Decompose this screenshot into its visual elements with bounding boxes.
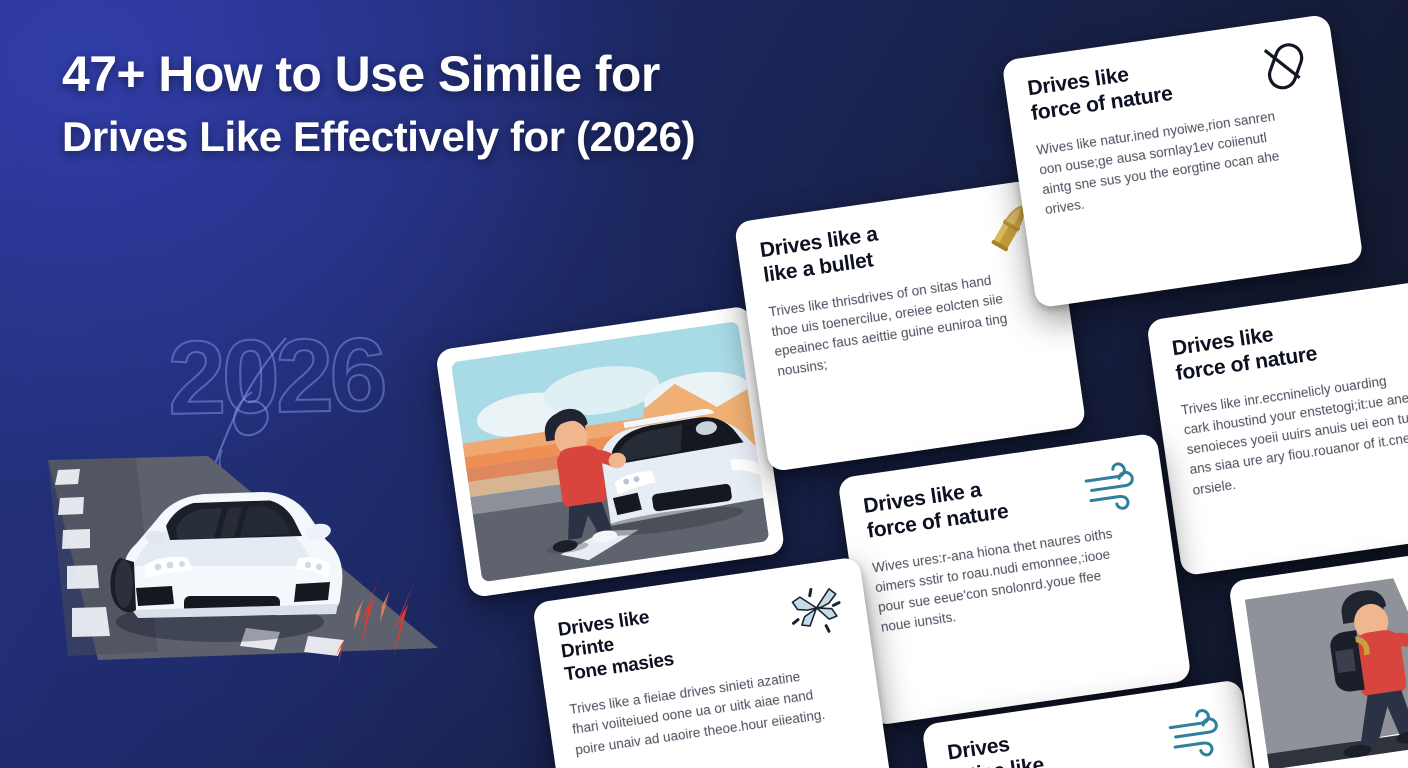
paperclip-icon xyxy=(1249,28,1324,103)
wind-icon xyxy=(1077,447,1152,522)
page-title: 47+ How to Use Simile for Drives Like Ef… xyxy=(62,46,822,162)
collision-icon xyxy=(779,570,854,645)
card-illustration-pushing-wall xyxy=(1244,551,1408,768)
card-drives-like-force-of-nature-2[interactable]: Drives like force of nature Trives like … xyxy=(1146,274,1408,576)
card-image-pushing-car[interactable] xyxy=(435,305,785,598)
missile-icon xyxy=(1393,288,1408,363)
page-title-line-2: Drives Like Effectively for (2026) xyxy=(62,112,822,162)
wind-icon xyxy=(1161,693,1236,768)
card-title: Drives ertise like xyxy=(946,713,1151,768)
hero-car-illustration xyxy=(8,398,448,698)
poster-canvas: 47+ How to Use Simile for Drives Like Ef… xyxy=(0,0,1408,768)
card-title: Drives like a force of nature xyxy=(862,467,1067,545)
card-drives-like-tone-masies[interactable]: Drives like Drinte Tone masies Trives li… xyxy=(532,556,894,768)
card-image-pushing-wall[interactable] xyxy=(1228,535,1408,768)
card-title: Drives like a like a bullet xyxy=(758,211,962,288)
card-drives-like-a-force-of-nature-3[interactable]: Drives like a force of nature Wives ures… xyxy=(837,433,1191,726)
card-drives-like-force-of-nature-1[interactable]: Drives like force of nature Wives like n… xyxy=(1001,14,1363,309)
card-title: Drives like Drinte Tone masies xyxy=(557,591,770,687)
card-illustration-pushing-car xyxy=(451,321,770,582)
page-title-line-1: 47+ How to Use Simile for xyxy=(62,46,822,102)
